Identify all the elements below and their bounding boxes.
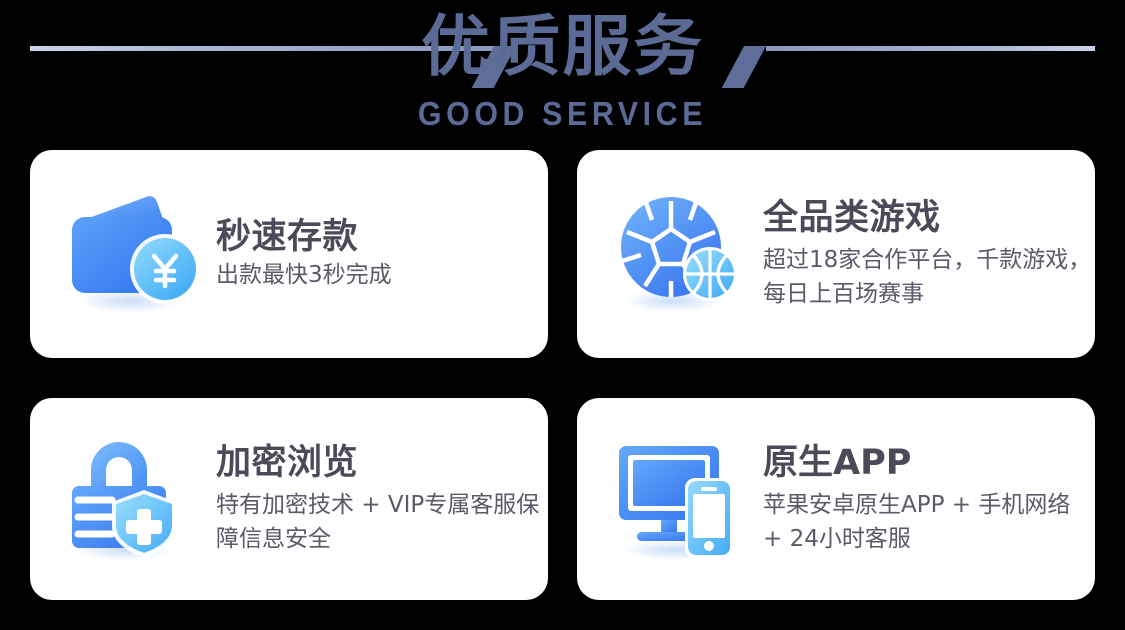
lock-shield-icon — [64, 434, 200, 564]
card-title: 全品类游戏 — [763, 197, 1093, 239]
feature-card-grid: 秒速存款 出款最快3秒完成 — [30, 150, 1095, 600]
good-service-panel: 优质服务 GOOD SERVICE — [0, 0, 1125, 630]
card-title: 加密浏览 — [216, 442, 546, 484]
card-description: 苹果安卓原生APP + 手机网络 + 24小时客服 — [763, 488, 1093, 556]
card-text-block: 加密浏览 特有加密技术 + VIP专属客服保障信息安全 — [216, 442, 546, 556]
soccer-basketball-icon — [611, 189, 747, 319]
page-title: 优质服务 — [0, 8, 1125, 86]
feature-card-games[interactable]: 全品类游戏 超过18家合作平台，千款游戏，每日上百场赛事 — [577, 150, 1095, 358]
card-text-block: 原生APP 苹果安卓原生APP + 手机网络 + 24小时客服 — [763, 442, 1093, 556]
page-subtitle: GOOD SERVICE — [45, 95, 1080, 133]
card-description: 特有加密技术 + VIP专属客服保障信息安全 — [216, 488, 546, 556]
feature-card-deposit[interactable]: 秒速存款 出款最快3秒完成 — [30, 150, 548, 358]
card-text-block: 秒速存款 出款最快3秒完成 — [216, 216, 392, 292]
card-description: 超过18家合作平台，千款游戏，每日上百场赛事 — [763, 243, 1093, 311]
card-text-block: 全品类游戏 超过18家合作平台，千款游戏，每日上百场赛事 — [763, 197, 1093, 311]
card-description: 出款最快3秒完成 — [216, 258, 392, 292]
feature-card-native-app[interactable]: 原生APP 苹果安卓原生APP + 手机网络 + 24小时客服 — [577, 398, 1095, 600]
wallet-yen-icon — [64, 189, 200, 319]
card-title: 原生APP — [763, 442, 1093, 484]
monitor-phone-icon — [611, 434, 747, 564]
card-title: 秒速存款 — [216, 216, 392, 258]
section-header: 优质服务 GOOD SERVICE — [0, 0, 1125, 145]
feature-card-encryption[interactable]: 加密浏览 特有加密技术 + VIP专属客服保障信息安全 — [30, 398, 548, 600]
